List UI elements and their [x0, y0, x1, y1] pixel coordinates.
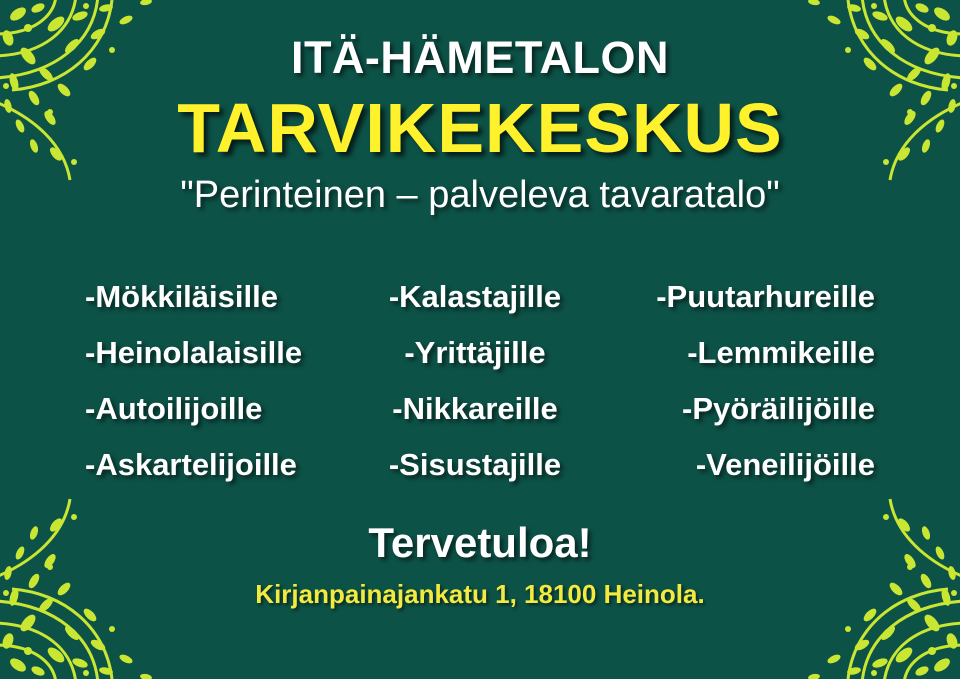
list-item: -Autoilijoille — [85, 391, 355, 427]
poster-canvas: ITÄ-HÄMETALON TARVIKEKESKUS "Perinteinen… — [0, 0, 960, 679]
list-item: -Lemmikeille — [595, 335, 875, 371]
list-item: -Yrittäjille — [355, 335, 595, 371]
list-row: -Mökkiläisille -Kalastajille -Puutarhure… — [85, 279, 875, 315]
address-text: Kirjanpainajankatu 1, 18100 Heinola. — [0, 579, 960, 610]
poster-content: ITÄ-HÄMETALON TARVIKEKESKUS "Perinteinen… — [0, 0, 960, 679]
list-item: -Heinolalaisille — [85, 335, 355, 371]
welcome-text: Tervetuloa! — [0, 519, 960, 567]
list-row: -Heinolalaisille -Yrittäjille -Lemmikeil… — [85, 335, 875, 371]
subtitle: "Perinteinen – palveleva tavaratalo" — [0, 174, 960, 217]
title-main: TARVIKEKESKUS — [0, 88, 960, 168]
list-row: -Autoilijoille -Nikkareille -Pyöräilijöi… — [85, 391, 875, 427]
list-item: -Veneilijöille — [595, 447, 875, 483]
list-item: -Puutarhureille — [595, 279, 875, 315]
list-row: -Askartelijoille -Sisustajille -Veneilij… — [85, 447, 875, 483]
list-item: -Nikkareille — [355, 391, 595, 427]
list-item: -Askartelijoille — [85, 447, 355, 483]
list-item: -Sisustajille — [355, 447, 595, 483]
title-top: ITÄ-HÄMETALON — [0, 0, 960, 84]
list-item: -Kalastajille — [355, 279, 595, 315]
audience-list: -Mökkiläisille -Kalastajille -Puutarhure… — [85, 279, 875, 483]
list-item: -Pyöräilijöille — [595, 391, 875, 427]
list-item: -Mökkiläisille — [85, 279, 355, 315]
